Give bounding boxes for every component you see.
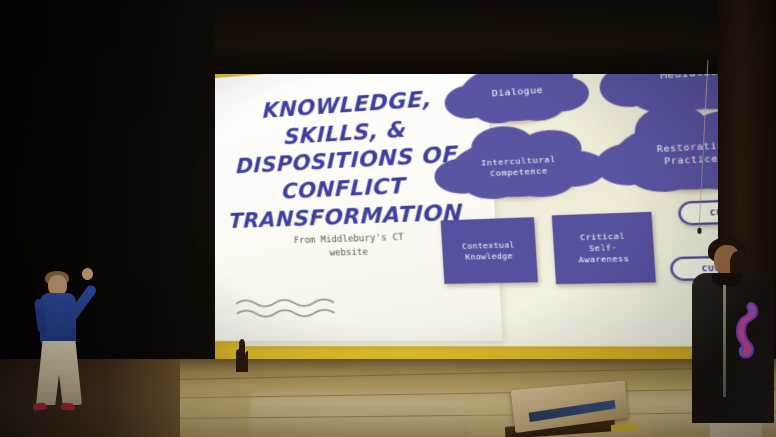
squiggle-decoration-icon: [234, 296, 353, 320]
square-label: Critical Self- Awareness: [577, 230, 630, 265]
square-label: Contextual Knowledge: [462, 240, 516, 263]
laptop-screen-strip: [529, 400, 616, 422]
presenter-laptop: [505, 385, 641, 437]
presenter-figure: [18, 269, 104, 419]
presenter-shoe: [33, 402, 48, 411]
cloud-label: Intercultural Competence: [481, 154, 557, 179]
attendee-jacket-zipper: [723, 285, 726, 397]
presenter-hand: [82, 268, 93, 280]
presenter-shoe: [61, 403, 75, 411]
seahorse-embroidery-icon: [730, 299, 764, 366]
hand-silhouette: [232, 330, 250, 372]
attendee-figure: [686, 237, 774, 437]
stage-scene: KNOWLEDGE, SKILLS, & DISPOSITIONS OF CON…: [0, 0, 776, 437]
attendee-collar: [712, 273, 742, 287]
stage-masking-top: [160, 0, 776, 74]
square-card-critical-self-awareness: Critical Self- Awareness: [552, 211, 656, 284]
laptop-sticker: [611, 423, 637, 432]
floor-reflection: [180, 391, 250, 437]
slide-title: KNOWLEDGE, SKILLS, & DISPOSITIONS OF CON…: [214, 81, 485, 235]
square-card-contextual-knowledge: Contextual Knowledge: [441, 217, 538, 284]
presenter-trousers: [36, 341, 82, 405]
